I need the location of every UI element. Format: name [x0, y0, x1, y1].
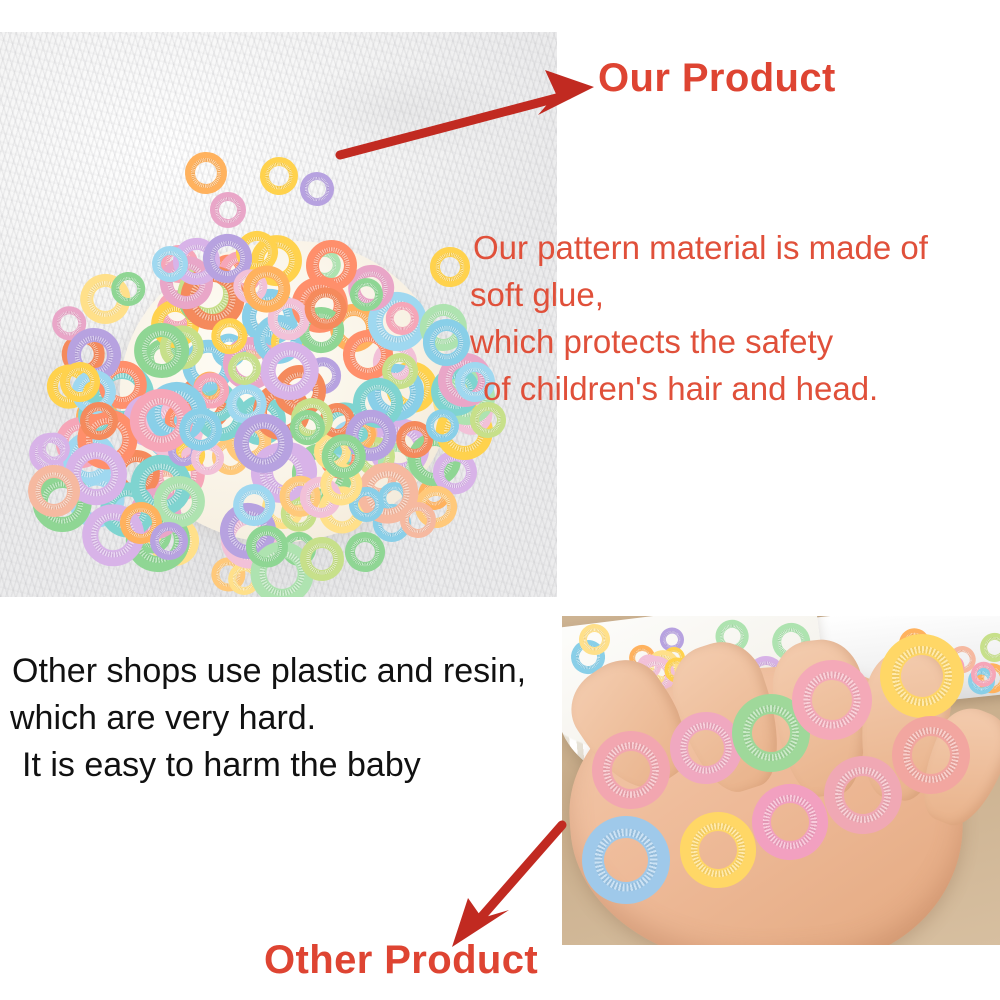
our-desc-line-4: of children's hair and head.: [483, 365, 1000, 412]
our-desc-line-1: Our pattern material is made of: [473, 224, 1000, 271]
other-product-arrow: [0, 0, 1000, 1000]
poster-canvas: Our Product Our pattern material is made…: [0, 0, 1000, 1000]
other-product-title: Other Product: [264, 938, 538, 983]
our-product-description: Our pattern material is made of soft glu…: [468, 224, 1000, 412]
our-desc-line-3: which protects the safety: [470, 318, 1000, 365]
other-desc-line-2: which are very hard.: [10, 695, 568, 742]
our-desc-line-2: soft glue,: [470, 271, 1000, 318]
other-desc-line-1: Other shops use plastic and resin,: [12, 648, 568, 695]
other-product-description: Other shops use plastic and resin, which…: [8, 648, 568, 789]
other-desc-line-3: It is easy to harm the baby: [22, 742, 568, 789]
other-arrow-shaft: [477, 825, 562, 922]
our-product-title: Our Product: [598, 56, 836, 101]
